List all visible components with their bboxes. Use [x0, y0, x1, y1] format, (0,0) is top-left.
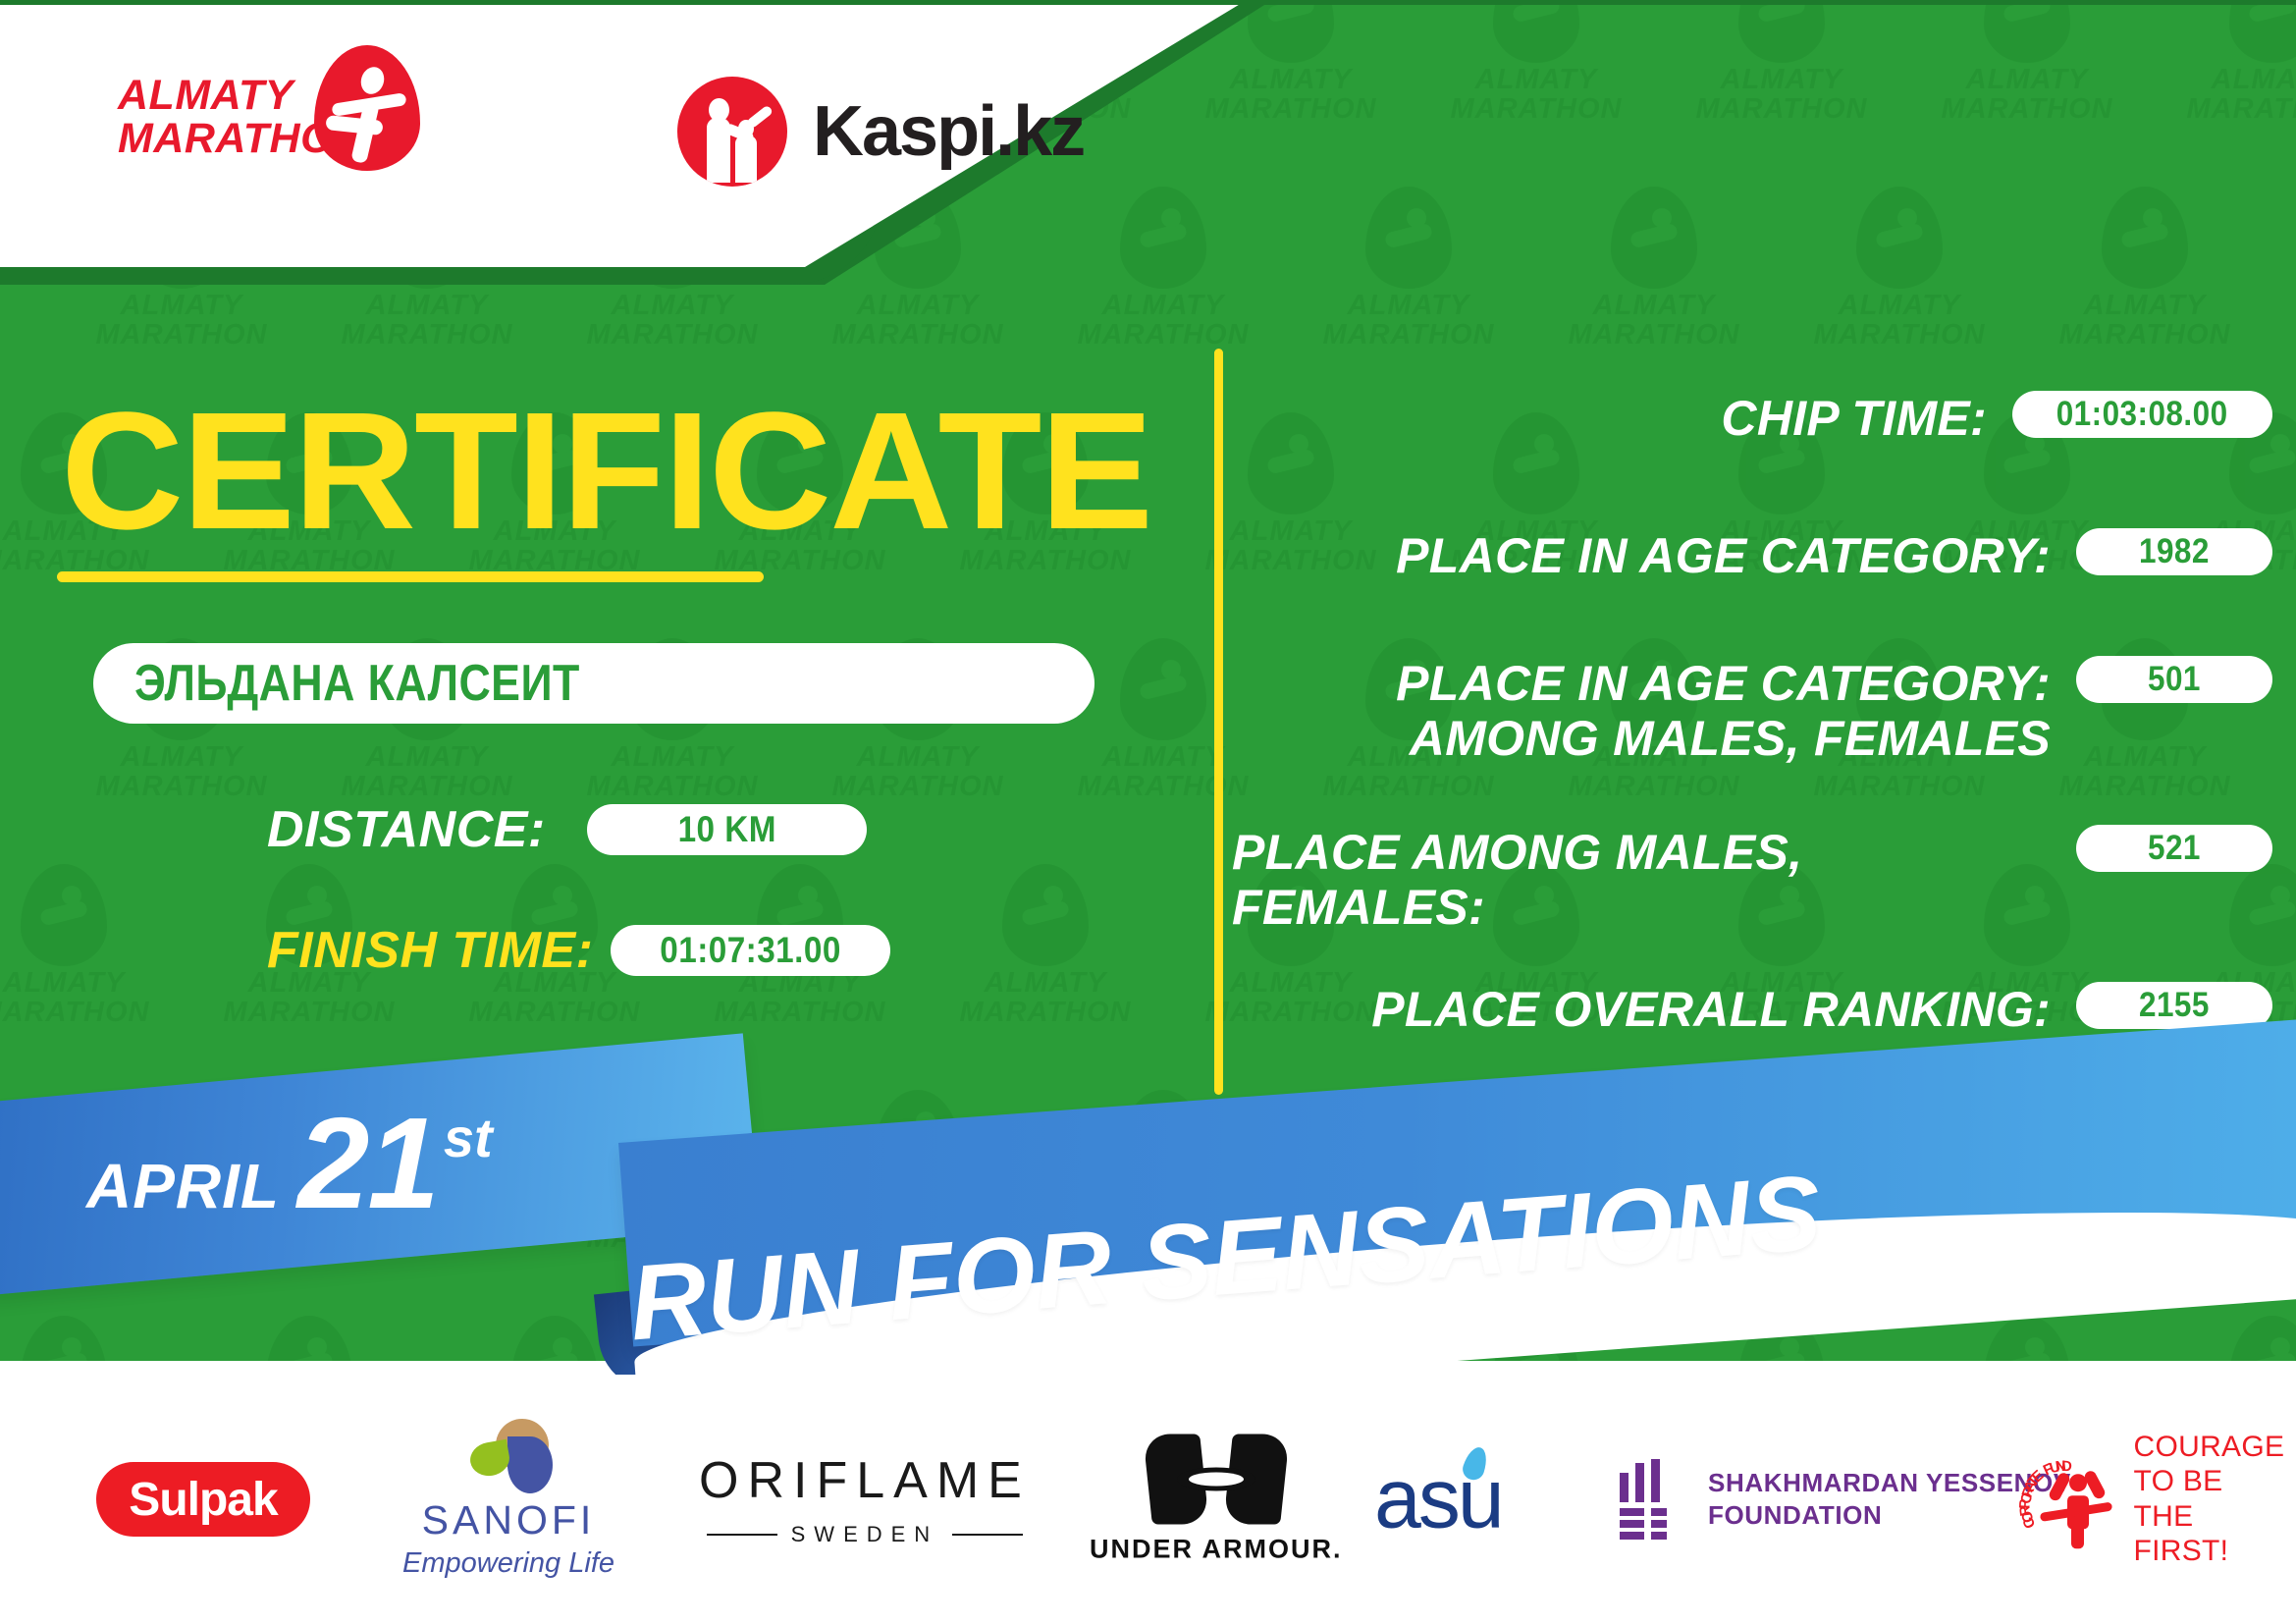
under-armour-wordmark: UNDER ARMOUR. [1090, 1535, 1343, 1565]
yessenov-bar-7 [1651, 1520, 1667, 1528]
place-age-category-among-label-line1: PLACE IN AGE CATEGORY: [1396, 656, 2051, 711]
ribbon-day: 21 [297, 1106, 438, 1222]
event-ribbon: RUN FOR SENSATIONS APRIL 21 st [0, 1080, 2296, 1404]
yessenov-bar-8 [1620, 1532, 1644, 1540]
result-row-chip-time: CHIP TIME: 01:03:08.00 [1232, 391, 2272, 446]
sponsor-asu: asu [1374, 1451, 1502, 1548]
chip-time-value-pill: 01:03:08.00 [2012, 391, 2272, 438]
almaty-marathon-logo: ALMATY MARATHON [118, 51, 432, 189]
result-row-place-age-category-among: PLACE IN AGE CATEGORY: AMONG MALES, FEMA… [1232, 656, 2272, 766]
ua-center-hole-icon [1189, 1473, 1244, 1487]
courage-figure-icon [2052, 1466, 2103, 1546]
certificate-page: ALMATYMARATHONALMATYMARATHONALMATYMARATH… [0, 0, 2296, 1624]
runner-head-icon [357, 64, 388, 97]
ribbon-date: APRIL 21 st [86, 1106, 505, 1222]
ribbon-day-suffix: st [444, 1106, 493, 1169]
finish-time-row: FINISH TIME: 01:07:31.00 [267, 921, 890, 980]
ribbon-month: APRIL [86, 1150, 280, 1222]
place-overall-ranking-label: PLACE OVERALL RANKING: [1232, 982, 2051, 1037]
sulpak-wordmark: Sulpak [129, 1473, 277, 1527]
title-underline [57, 571, 764, 582]
header-logos: ALMATY MARATHON Kaspi.kz [0, 0, 1080, 267]
place-among-males-females-value: 521 [2148, 829, 2201, 868]
distance-label: DISTANCE: [267, 800, 546, 859]
sulpak-logo: Sulpak [96, 1462, 310, 1537]
sanofi-mark-icon [464, 1419, 553, 1491]
kaspi-child-body-icon [735, 135, 757, 183]
sanofi-petal-blue-icon [507, 1436, 553, 1493]
place-age-category-value-pill: 1982 [2076, 528, 2272, 575]
sponsor-sanofi: SANOFI Empowering Life [402, 1419, 614, 1580]
participant-name-value: ЭЛЬДАНА КАЛСЕИТ [134, 654, 580, 713]
place-overall-ranking-label-line1: PLACE OVERALL RANKING: [1371, 982, 2051, 1037]
yessenov-bar-9 [1651, 1532, 1667, 1540]
sponsor-under-armour: UNDER ARMOUR. [1090, 1435, 1343, 1565]
sponsor-oriflame: ORIFLAME SWEDEN [699, 1451, 1031, 1547]
yessenov-bar-3 [1651, 1459, 1660, 1502]
kaspi-wordmark: Kaspi.kz [813, 91, 1084, 172]
chip-time-label: CHIP TIME: [1232, 391, 1987, 446]
yessenov-bar-5 [1651, 1508, 1667, 1516]
under-armour-mark-icon [1148, 1435, 1285, 1525]
finish-time-label: FINISH TIME: [267, 921, 593, 980]
place-among-males-females-value-pill: 521 [2076, 825, 2272, 872]
page-title: CERTIFICATE [61, 388, 1151, 555]
yessenov-mark-icon [1620, 1459, 1682, 1540]
asu-logo: asu [1374, 1451, 1502, 1548]
chip-time-label-line1: CHIP TIME: [1721, 391, 1987, 446]
sponsor-courage-fund: CORPORATE FUND COURAGE TO BE THE FIRST! [2022, 1430, 2296, 1569]
place-among-males-females-label-line1: PLACE AMONG MALES, [1232, 825, 1802, 880]
place-age-category-among-value: 501 [2148, 660, 2201, 699]
place-among-males-females-label: PLACE AMONG MALES, FEMALES: [1232, 825, 2051, 935]
oriflame-country: SWEDEN [791, 1522, 939, 1547]
place-age-category-among-label: PLACE IN AGE CATEGORY: AMONG MALES, FEMA… [1232, 656, 2051, 766]
almaty-marathon-drop-runner-icon [314, 45, 420, 171]
place-age-category-value: 1982 [2139, 532, 2210, 571]
distance-row: DISTANCE: 10 KM [267, 800, 867, 859]
place-age-category-label: PLACE IN AGE CATEGORY: [1232, 528, 2051, 583]
yessenov-bar-6 [1620, 1520, 1644, 1528]
column-divider [1214, 349, 1223, 1095]
kaspi-people-circle-icon [677, 77, 787, 187]
courage-line3: THE FIRST! [2134, 1499, 2296, 1569]
kaspi-child-arm-icon [746, 104, 774, 129]
result-row-place-age-category: PLACE IN AGE CATEGORY: 1982 [1232, 528, 2272, 583]
chip-time-value: 01:03:08.00 [2056, 395, 2228, 434]
yessenov-line1: SHAKHMARDAN YESSENOV [1708, 1467, 2071, 1499]
result-row-place-overall-ranking: PLACE OVERALL RANKING: 2155 [1232, 982, 2272, 1037]
sanofi-petal-green-icon [467, 1439, 511, 1479]
distance-value: 10 KM [677, 809, 775, 850]
courage-wordmark: COURAGE TO BE THE FIRST! [2134, 1430, 2296, 1569]
finish-time-value-pill: 01:07:31.00 [611, 925, 890, 976]
place-overall-ranking-value-pill: 2155 [2076, 982, 2272, 1029]
place-among-males-females-label-line2: FEMALES: [1232, 880, 1485, 935]
distance-value-pill: 10 KM [587, 804, 867, 855]
oriflame-subtitle: SWEDEN [699, 1522, 1031, 1547]
sponsor-sulpak: Sulpak [96, 1462, 310, 1537]
courage-leg-icon [2071, 1523, 2084, 1548]
yessenov-bar-1 [1620, 1473, 1629, 1502]
courage-head-icon [2069, 1474, 2087, 1491]
kaspi-logo: Kaspi.kz [677, 77, 1084, 187]
sponsor-bar: Sulpak SANOFI Empowering Life ORIFLAME S… [0, 1375, 2296, 1624]
yessenov-bar-4 [1620, 1508, 1644, 1516]
participant-name-field: ЭЛЬДАНА КАЛСЕИТ [93, 643, 1095, 724]
place-age-category-among-label-line2: AMONG MALES, FEMALES [1410, 711, 2051, 766]
sanofi-tagline: Empowering Life [402, 1547, 614, 1580]
place-overall-ranking-value: 2155 [2139, 986, 2210, 1025]
oriflame-wordmark: ORIFLAME [699, 1451, 1031, 1510]
result-row-place-among-males-females: PLACE AMONG MALES, FEMALES: 521 [1232, 825, 2272, 935]
place-age-category-among-value-pill: 501 [2076, 656, 2272, 703]
courage-mark-icon: CORPORATE FUND [2022, 1452, 2116, 1546]
courage-line1: COURAGE [2134, 1430, 2296, 1464]
oriflame-rule-left [707, 1534, 777, 1536]
oriflame-rule-right [952, 1534, 1023, 1536]
sanofi-wordmark: SANOFI [402, 1497, 614, 1543]
courage-line2: TO BE [2134, 1465, 2296, 1499]
yessenov-bar-2 [1635, 1463, 1644, 1502]
place-age-category-label-line1: PLACE IN AGE CATEGORY: [1396, 528, 2051, 583]
sponsor-yessenov-foundation: SHAKHMARDAN YESSENOV FOUNDATION [1620, 1459, 2071, 1540]
finish-time-value: 01:07:31.00 [661, 930, 842, 971]
